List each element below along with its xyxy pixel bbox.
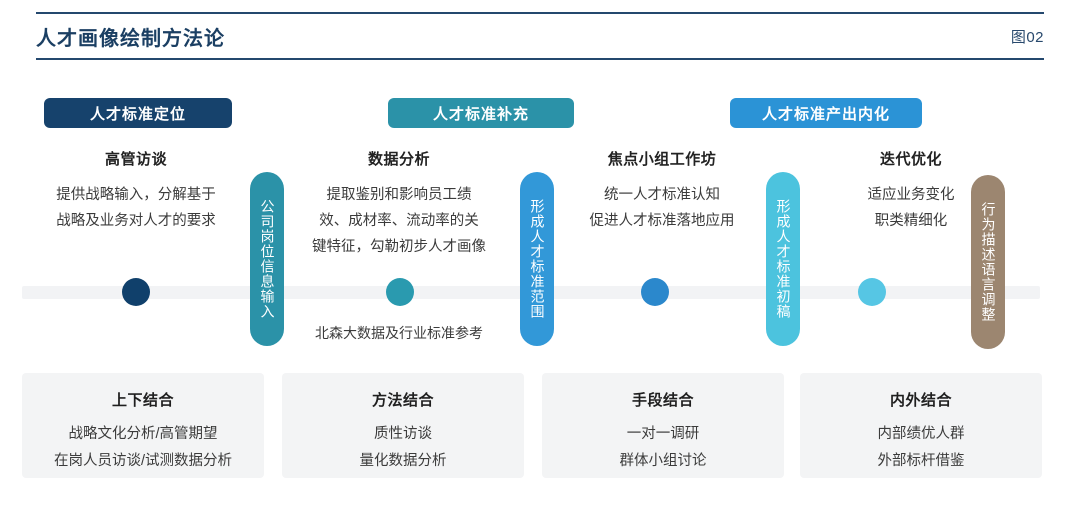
step-desc-line: 促进人才标准落地应用 — [556, 208, 768, 234]
step-column-3: 焦点小组工作坊 统一人才标准认知 促进人才标准落地应用 — [556, 148, 768, 234]
connector-pill-3[interactable]: 形成人才标准初稿 — [766, 172, 800, 346]
summary-card-line: 外部标杆借鉴 — [800, 448, 1042, 475]
timeline-dot-2[interactable] — [386, 278, 414, 306]
connector-pill-1[interactable]: 公司岗位信息输入 — [250, 172, 284, 346]
step-desc-line: 提供战略输入，分解基于 — [18, 182, 254, 208]
step-desc-3: 统一人才标准认知 促进人才标准落地应用 — [556, 182, 768, 234]
step-desc-line: 提取鉴别和影响员工绩 — [288, 182, 510, 208]
stage-pill-1[interactable]: 人才标准定位 — [44, 98, 232, 128]
connector-pill-label-2: 形成人才标准范围 — [528, 199, 547, 319]
summary-card-2[interactable]: 方法结合 质性访谈 量化数据分析 — [282, 373, 524, 478]
timeline-dot-3[interactable] — [641, 278, 669, 306]
connector-pill-4[interactable]: 行为描述语言调整 — [971, 175, 1005, 349]
step-title-4: 迭代优化 — [806, 148, 1016, 169]
stage-pill-3[interactable]: 人才标准产出内化 — [730, 98, 922, 128]
step-desc-line: 效、成材率、流动率的关 — [288, 208, 510, 234]
summary-card-title-4: 内外结合 — [800, 389, 1042, 410]
connector-pill-label-4: 行为描述语言调整 — [979, 202, 998, 322]
step-desc-line: 战略及业务对人才的要求 — [18, 208, 254, 234]
header: 人才画像绘制方法论 图02 — [36, 12, 1044, 60]
step-desc-1: 提供战略输入，分解基于 战略及业务对人才的要求 — [18, 182, 254, 234]
step-desc-line: 键特征，勾勒初步人才画像 — [288, 234, 510, 260]
summary-card-line: 战略文化分析/高管期望 — [22, 421, 264, 448]
step-note-2: 北森大数据及行业标准参考 — [288, 323, 510, 343]
step-column-2: 数据分析 提取鉴别和影响员工绩 效、成材率、流动率的关 键特征，勾勒初步人才画像 — [288, 148, 510, 260]
summary-card-title-3: 手段结合 — [542, 389, 784, 410]
connector-pill-label-1: 公司岗位信息输入 — [258, 199, 277, 319]
timeline-dot-4[interactable] — [858, 278, 886, 306]
page-title: 人才画像绘制方法论 — [36, 22, 225, 51]
step-column-1: 高管访谈 提供战略输入，分解基于 战略及业务对人才的要求 — [18, 148, 254, 234]
figure-number: 图02 — [1011, 26, 1044, 47]
summary-card-line: 质性访谈 — [282, 421, 524, 448]
stage-pill-2[interactable]: 人才标准补充 — [388, 98, 574, 128]
diagram-page: 人才画像绘制方法论 图02 人才标准定位 人才标准补充 人才标准产出内化 高管访… — [0, 0, 1080, 515]
summary-card-line: 内部绩优人群 — [800, 421, 1042, 448]
step-title-2: 数据分析 — [288, 148, 510, 169]
summary-card-3[interactable]: 手段结合 一对一调研 群体小组讨论 — [542, 373, 784, 478]
summary-card-line: 在岗人员访谈/试测数据分析 — [22, 448, 264, 475]
connector-pill-2[interactable]: 形成人才标准范围 — [520, 172, 554, 346]
summary-card-4[interactable]: 内外结合 内部绩优人群 外部标杆借鉴 — [800, 373, 1042, 478]
step-desc-2: 提取鉴别和影响员工绩 效、成材率、流动率的关 键特征，勾勒初步人才画像 — [288, 182, 510, 260]
step-desc-line: 统一人才标准认知 — [556, 182, 768, 208]
step-title-3: 焦点小组工作坊 — [556, 148, 768, 169]
connector-pill-label-3: 形成人才标准初稿 — [774, 199, 793, 319]
timeline-dot-1[interactable] — [122, 278, 150, 306]
summary-card-1[interactable]: 上下结合 战略文化分析/高管期望 在岗人员访谈/试测数据分析 — [22, 373, 264, 478]
summary-card-line: 一对一调研 — [542, 421, 784, 448]
summary-card-title-1: 上下结合 — [22, 389, 264, 410]
summary-card-line: 群体小组讨论 — [542, 448, 784, 475]
summary-card-title-2: 方法结合 — [282, 389, 524, 410]
summary-card-line: 量化数据分析 — [282, 448, 524, 475]
step-title-1: 高管访谈 — [18, 148, 254, 169]
